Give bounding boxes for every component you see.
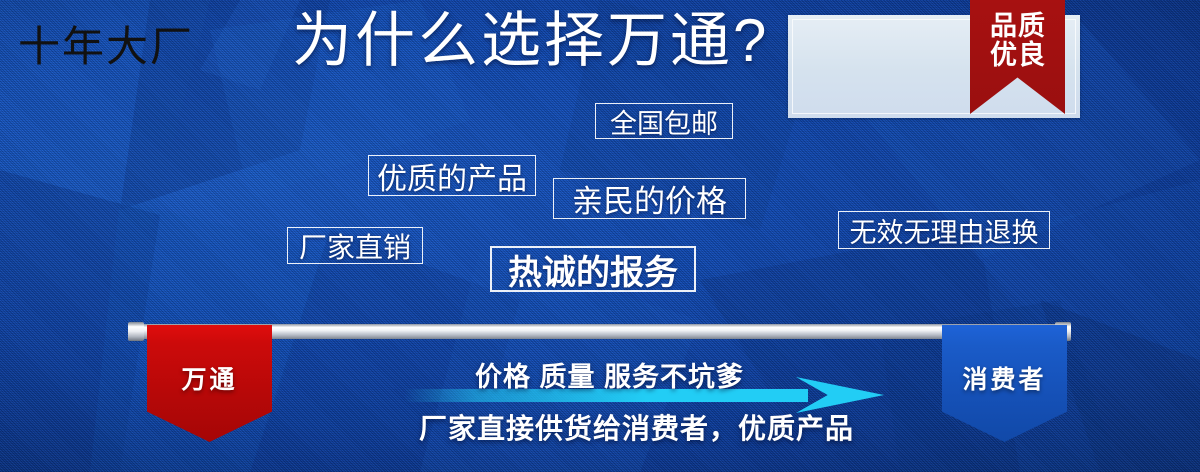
pole-bar	[138, 324, 1061, 339]
pole-cap-left	[128, 322, 144, 341]
feature-tag: 全国包邮	[595, 103, 733, 139]
ribbon-label-line1: 品质	[977, 12, 1059, 41]
page-title: 为什么选择万通?	[292, 11, 769, 71]
feature-tag: 亲民的价格	[553, 178, 746, 219]
feature-tag: 热诚的报务	[490, 246, 696, 292]
manufacturer-flag-label: 万通	[181, 360, 237, 396]
feature-tag: 厂家直销	[287, 227, 423, 264]
badge-label: 十年大厂	[18, 26, 194, 68]
feature-tag: 优质的产品	[368, 155, 536, 196]
feature-tag: 无效无理由退换	[838, 211, 1050, 249]
slogan-secondary: 厂家直接供货给消费者，优质产品	[419, 407, 854, 447]
ribbon-label: 品质 优良	[977, 12, 1059, 70]
consumer-flag-label: 消费者	[962, 360, 1046, 396]
slogan-primary: 价格 质量 服务不坑爹	[475, 355, 744, 394]
ribbon-label-line2: 优良	[977, 41, 1059, 70]
promo-banner: 为什么选择万通? 十年大厂 品质 优良 全国包邮优质的产品亲民的价格无效无理由退…	[0, 0, 1200, 472]
